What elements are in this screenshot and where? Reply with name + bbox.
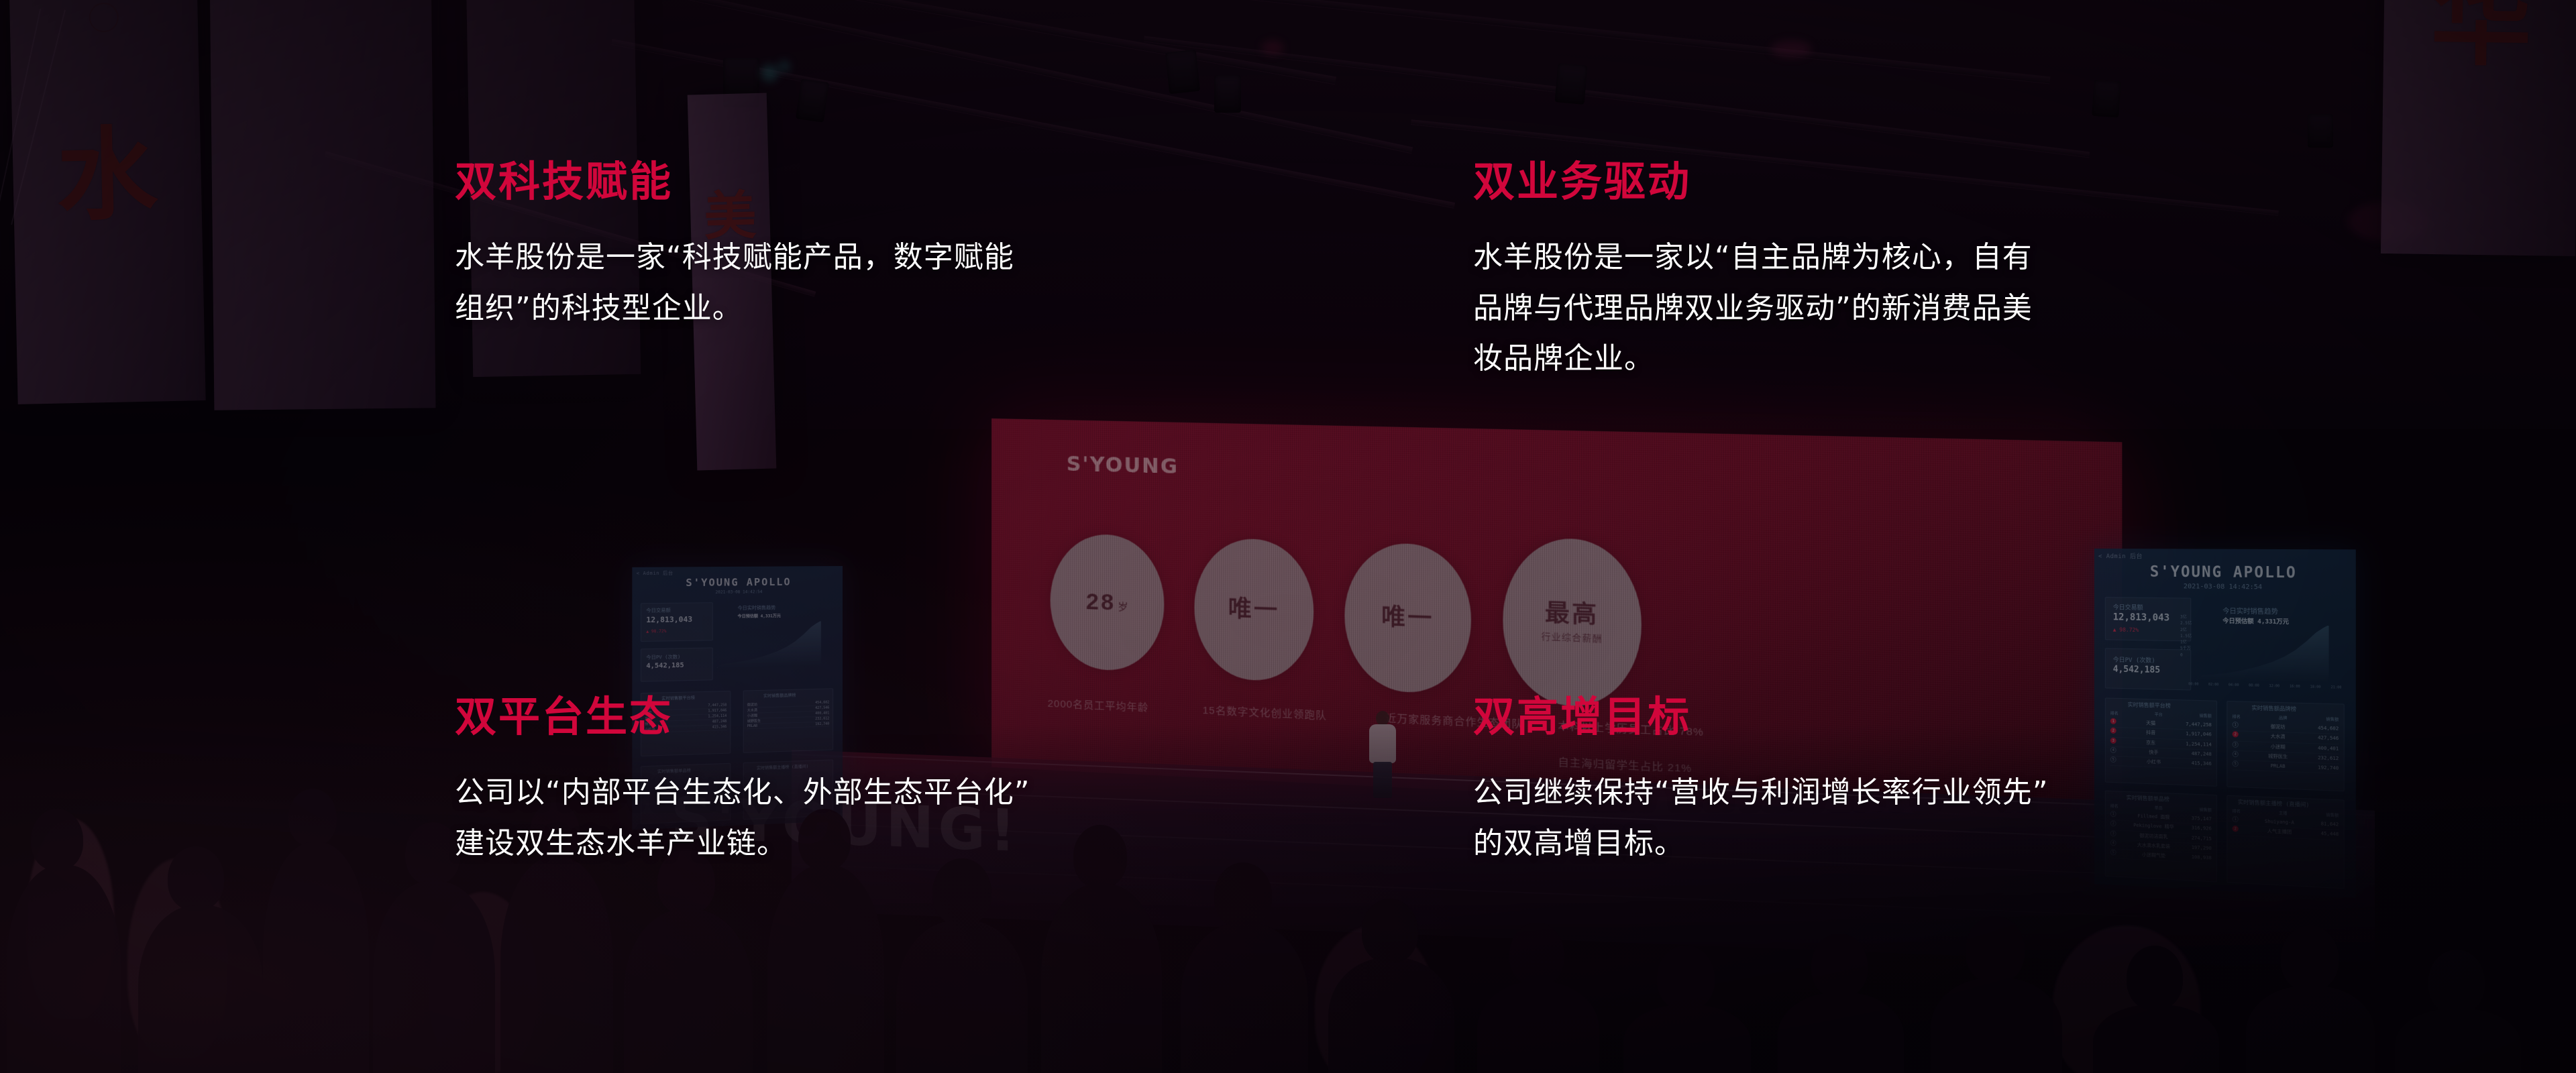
info-block-heading: 双科技赋能 xyxy=(455,161,1014,203)
info-block-body: 公司继续保持“营收与利润增长率行业领先” 的双高增目标。 xyxy=(1473,767,2049,868)
info-block-heading: 双高增目标 xyxy=(1473,696,2049,738)
info-block-dual-platform: 双平台生态 公司以“内部平台生态化、外部生态平台化” 建设双生态水羊产业链。 xyxy=(455,696,1030,868)
info-body-line: 建设双生态水羊产业链。 xyxy=(455,818,1030,869)
text-overlay: 双科技赋能 水羊股份是一家“科技赋能产品，数字赋能 组织”的科技型企业。 双业务… xyxy=(0,0,2576,1073)
info-block-dual-business: 双业务驱动 水羊股份是一家以“自主品牌为核心，自有 品牌与代理品牌双业务驱动”的… xyxy=(1473,161,2033,384)
info-block-heading: 双平台生态 xyxy=(455,696,1030,738)
info-body-line: 组织”的科技型企业。 xyxy=(455,283,1014,334)
info-block-body: 水羊股份是一家以“自主品牌为核心，自有 品牌与代理品牌双业务驱动”的新消费品美 … xyxy=(1473,232,2033,384)
info-body-line: 妆品牌企业。 xyxy=(1473,333,2033,384)
info-body-line: 品牌与代理品牌双业务驱动”的新消费品美 xyxy=(1473,283,2033,334)
info-block-dual-growth: 双高增目标 公司继续保持“营收与利润增长率行业领先” 的双高增目标。 xyxy=(1473,696,2049,868)
info-body-line: 公司继续保持“营收与利润增长率行业领先” xyxy=(1473,767,2049,818)
stage-photo-scene: 水 美 华 S'YOUNG 28 岁 唯一 唯一 xyxy=(0,0,2576,1073)
info-body-line: 的双高增目标。 xyxy=(1473,818,2049,869)
info-body-line: 水羊股份是一家以“自主品牌为核心，自有 xyxy=(1473,232,2033,283)
info-block-body: 公司以“内部平台生态化、外部生态平台化” 建设双生态水羊产业链。 xyxy=(455,767,1030,868)
info-block-dual-tech: 双科技赋能 水羊股份是一家“科技赋能产品，数字赋能 组织”的科技型企业。 xyxy=(455,161,1014,333)
info-body-line: 公司以“内部平台生态化、外部生态平台化” xyxy=(455,767,1030,818)
info-block-heading: 双业务驱动 xyxy=(1473,161,2033,203)
info-body-line: 水羊股份是一家“科技赋能产品，数字赋能 xyxy=(455,232,1014,283)
info-block-body: 水羊股份是一家“科技赋能产品，数字赋能 组织”的科技型企业。 xyxy=(455,232,1014,333)
